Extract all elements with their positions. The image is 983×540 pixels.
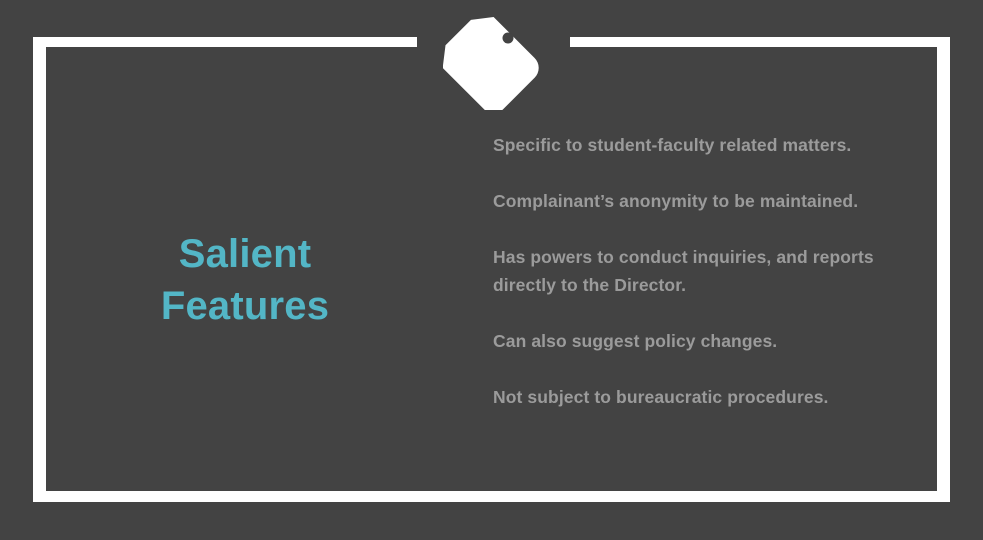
list-item: Can also suggest policy changes. <box>493 327 923 355</box>
frame-border-top-right <box>570 37 950 47</box>
page-title-line-1: Salient <box>60 228 430 280</box>
page-title: Salient Features <box>60 228 430 332</box>
frame-border-top-left <box>33 37 417 47</box>
tag-icon <box>443 12 543 110</box>
slide-canvas: Salient Features Specific to student-fac… <box>0 0 983 540</box>
features-list: Specific to student-faculty related matt… <box>493 131 923 411</box>
list-item: Complainant’s anonymity to be maintained… <box>493 187 923 215</box>
frame-border-left <box>33 37 46 502</box>
list-item: Has powers to conduct inquiries, and rep… <box>493 243 923 299</box>
page-title-line-2: Features <box>60 280 430 332</box>
frame-border-bottom <box>33 491 950 502</box>
list-item: Not subject to bureaucratic procedures. <box>493 383 923 411</box>
list-item: Specific to student-faculty related matt… <box>493 131 923 159</box>
frame-border-right <box>937 37 950 502</box>
